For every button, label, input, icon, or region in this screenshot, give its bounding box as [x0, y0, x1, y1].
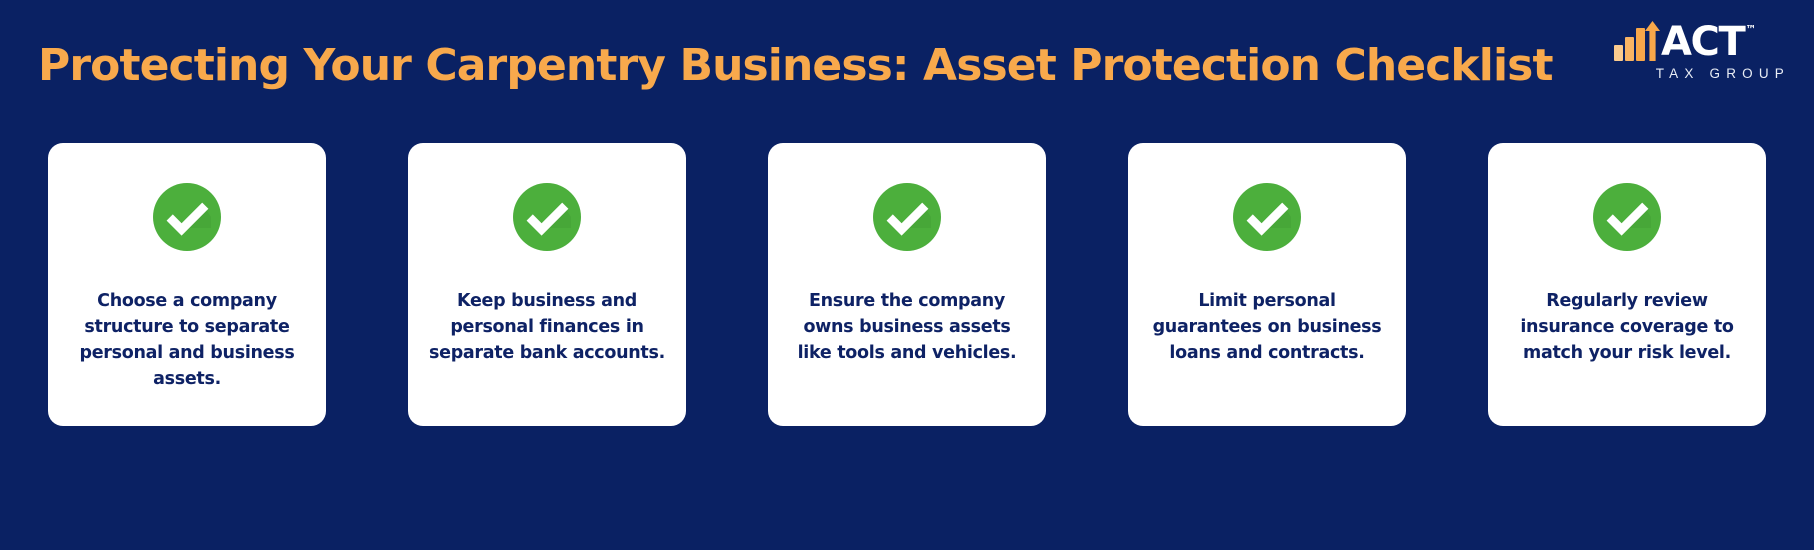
check-circle-icon: [1233, 183, 1301, 251]
list-item: Ensure the company owns business assets …: [768, 143, 1046, 426]
list-item-label: Choose a company structure to separate p…: [62, 289, 312, 393]
logo-name-text: ACT: [1661, 19, 1744, 65]
list-item-label: Keep business and personal finances in s…: [422, 289, 672, 367]
bar-chart-arrow-icon: [1614, 21, 1660, 61]
brand-logo: ACT™ TAX GROUP: [1614, 17, 1792, 85]
list-item-label: Limit personal guarantees on business lo…: [1142, 289, 1392, 367]
up-arrow-icon: [1645, 21, 1660, 61]
list-item: Regularly review insurance coverage to m…: [1488, 143, 1766, 426]
page-title: Protecting Your Carpentry Business: Asse…: [38, 44, 1553, 88]
list-item: Limit personal guarantees on business lo…: [1128, 143, 1406, 426]
trademark-icon: ™: [1745, 23, 1755, 36]
logo-subtitle: TAX GROUP: [1614, 66, 1792, 81]
check-circle-icon: [1593, 183, 1661, 251]
logo-name: ACT™: [1661, 23, 1754, 61]
check-circle-icon: [873, 183, 941, 251]
list-item: Choose a company structure to separate p…: [48, 143, 326, 426]
header: Protecting Your Carpentry Business: Asse…: [0, 0, 1814, 132]
logo-bar-3: [1636, 28, 1645, 61]
checklist-cards: Choose a company structure to separate p…: [48, 143, 1766, 426]
list-item-label: Regularly review insurance coverage to m…: [1502, 289, 1752, 367]
check-circle-icon: [153, 183, 221, 251]
logo-bar-1: [1614, 45, 1623, 61]
logo-wordmark-row: ACT™: [1614, 17, 1792, 61]
list-item-label: Ensure the company owns business assets …: [782, 289, 1032, 367]
check-circle-icon: [513, 183, 581, 251]
list-item: Keep business and personal finances in s…: [408, 143, 686, 426]
infographic-canvas: Protecting Your Carpentry Business: Asse…: [0, 0, 1814, 550]
logo-bar-2: [1625, 37, 1634, 61]
